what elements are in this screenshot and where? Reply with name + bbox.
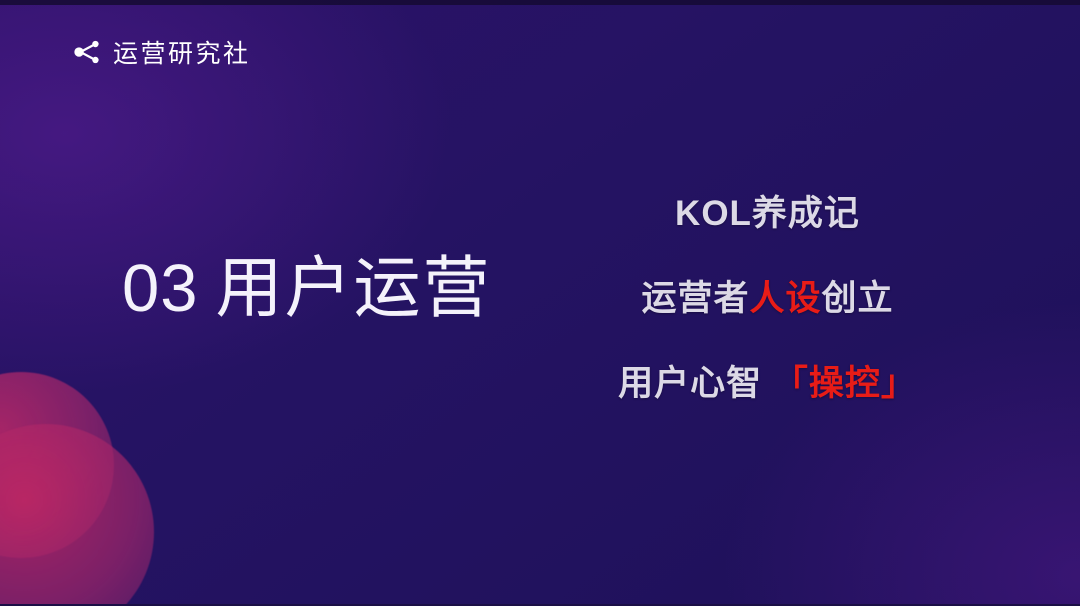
topic-item-1: KOL养成记 — [585, 196, 950, 231]
topic-item-2: 运营者人设创立 — [585, 281, 950, 316]
brand-logo: 运营研究社 — [72, 34, 251, 70]
page-title: 03用户运营 — [122, 255, 492, 322]
section-number: 03 — [122, 251, 199, 326]
topic-1-segment-1: KOL养成记 — [675, 194, 860, 233]
share-icon — [72, 37, 102, 67]
topic-list: KOL养成记 运营者人设创立 用户心智 「操控」 — [585, 196, 950, 401]
topic-item-3: 用户心智 「操控」 — [585, 366, 950, 401]
topic-2-segment-3: 创立 — [822, 279, 894, 318]
brand-name: 运营研究社 — [113, 34, 251, 70]
top-band — [0, 0, 1080, 5]
topic-3-segment-1: 用户心智 — [618, 364, 773, 403]
topic-2-segment-1: 运营者 — [641, 279, 749, 318]
presentation-slide: 运营研究社 03用户运营 KOL养成记 运营者人设创立 用户心智 「操控」 — [0, 0, 1080, 606]
topic-3-segment-2: 「操控」 — [773, 364, 917, 403]
section-title: 用户运营 — [216, 251, 492, 326]
topic-2-segment-2: 人设 — [749, 279, 821, 318]
